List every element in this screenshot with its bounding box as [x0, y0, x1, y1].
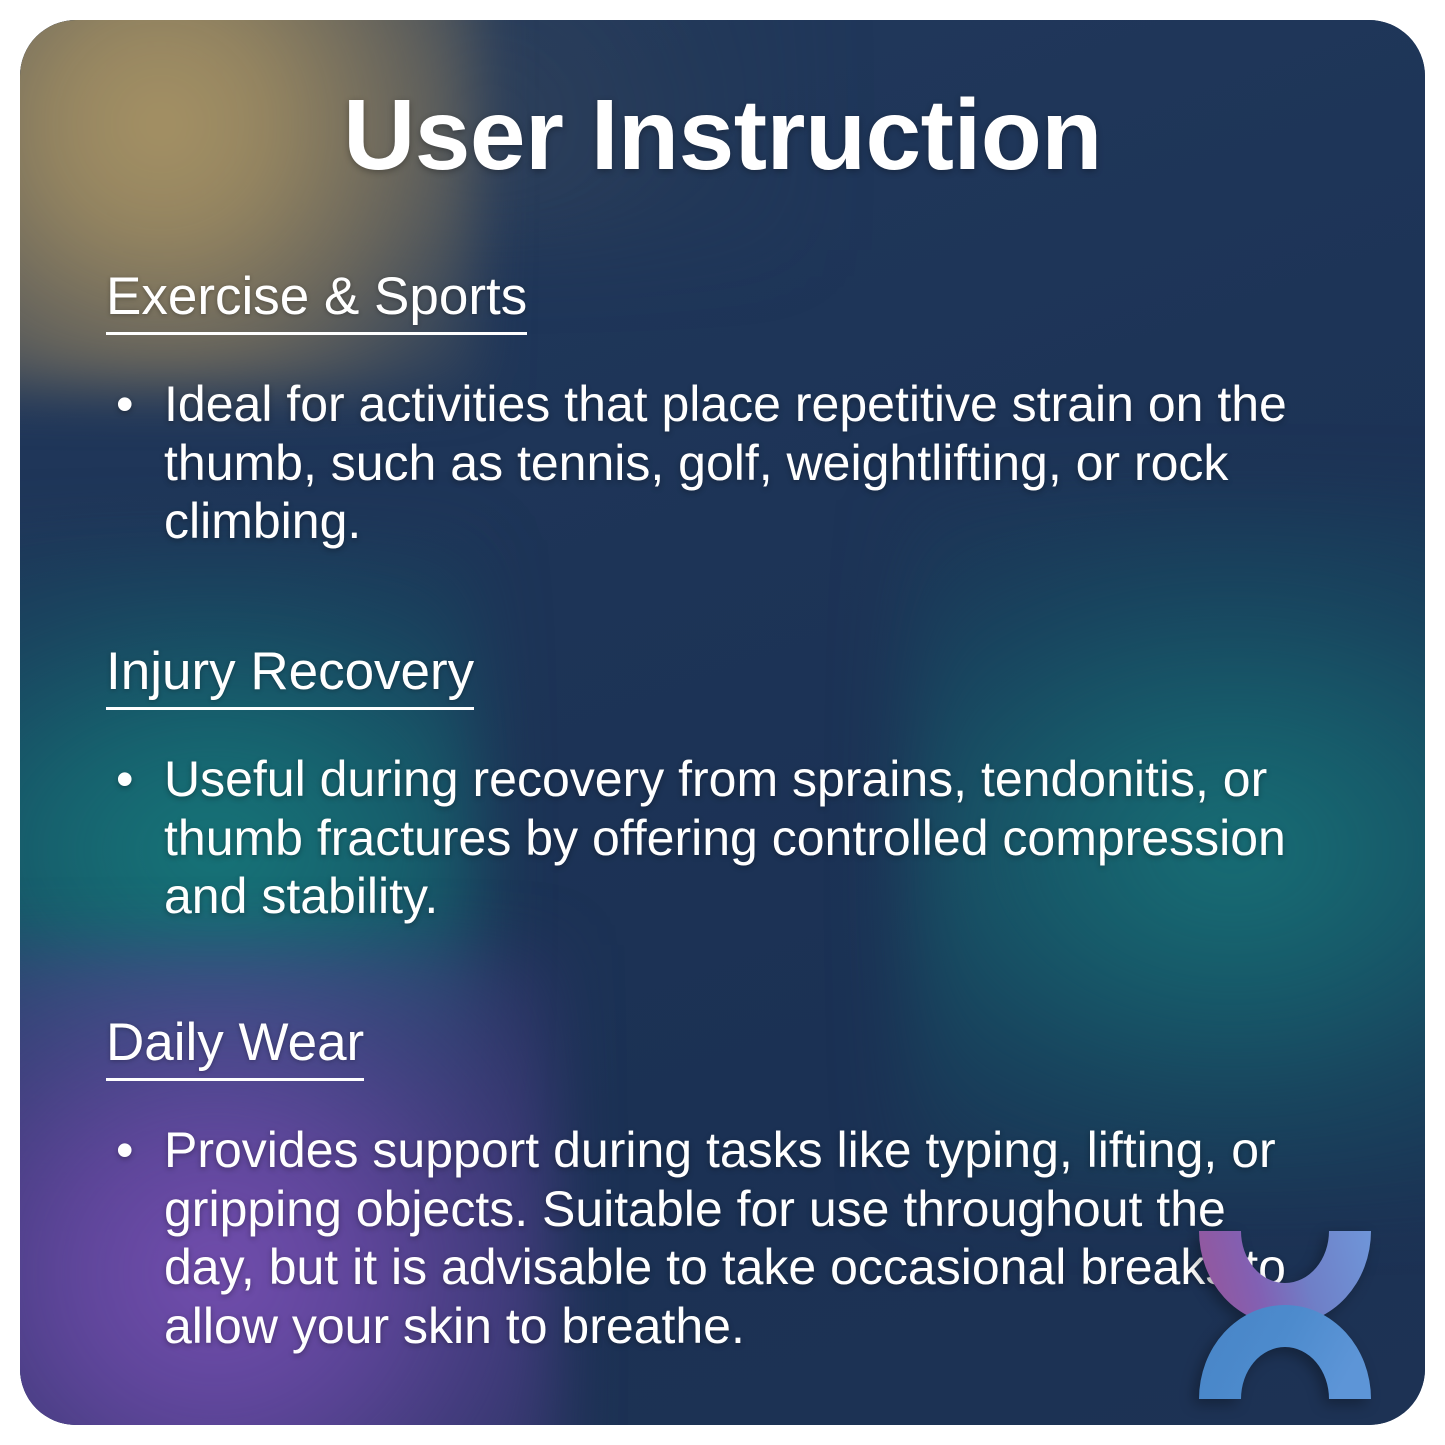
list-item-text: Useful during recovery from sprains, ten…: [164, 751, 1286, 924]
section-injury-recovery: Injury Recovery • Useful during recovery…: [82, 641, 1385, 926]
instruction-card: User Instruction Exercise & Sports • Ide…: [20, 20, 1425, 1425]
bullet-list-daily-wear: • Provides support during tasks like typ…: [82, 1121, 1385, 1355]
card-content: User Instruction Exercise & Sports • Ide…: [20, 20, 1425, 1425]
screenshot-canvas: User Instruction Exercise & Sports • Ide…: [0, 0, 1445, 1445]
section-heading-exercise-and-sports: Exercise & Sports: [106, 266, 527, 335]
bullet-dot-icon: •: [116, 1121, 134, 1180]
section-heading-injury-recovery: Injury Recovery: [106, 641, 474, 710]
list-item: • Ideal for activities that place repeti…: [106, 375, 1321, 551]
bullet-list-injury-recovery: • Useful during recovery from sprains, t…: [82, 750, 1385, 926]
list-item: • Useful during recovery from sprains, t…: [106, 750, 1321, 926]
page-title: User Instruction: [20, 80, 1425, 190]
bullet-list-exercise-and-sports: • Ideal for activities that place repeti…: [82, 375, 1385, 551]
section-exercise-and-sports: Exercise & Sports • Ideal for activities…: [82, 266, 1385, 551]
bullet-dot-icon: •: [116, 750, 134, 809]
sections-container: Exercise & Sports • Ideal for activities…: [82, 266, 1385, 1355]
section-daily-wear: Daily Wear • Provides support during tas…: [82, 1012, 1385, 1355]
list-item: • Provides support during tasks like typ…: [106, 1121, 1321, 1355]
list-item-text: Provides support during tasks like typin…: [164, 1122, 1286, 1354]
bullet-dot-icon: •: [116, 375, 134, 434]
logo-bottom-arc: [1199, 1305, 1371, 1399]
section-heading-daily-wear: Daily Wear: [106, 1012, 364, 1081]
list-item-text: Ideal for activities that place repetiti…: [164, 376, 1287, 549]
hourglass-x-logo-icon: [1193, 1229, 1377, 1401]
